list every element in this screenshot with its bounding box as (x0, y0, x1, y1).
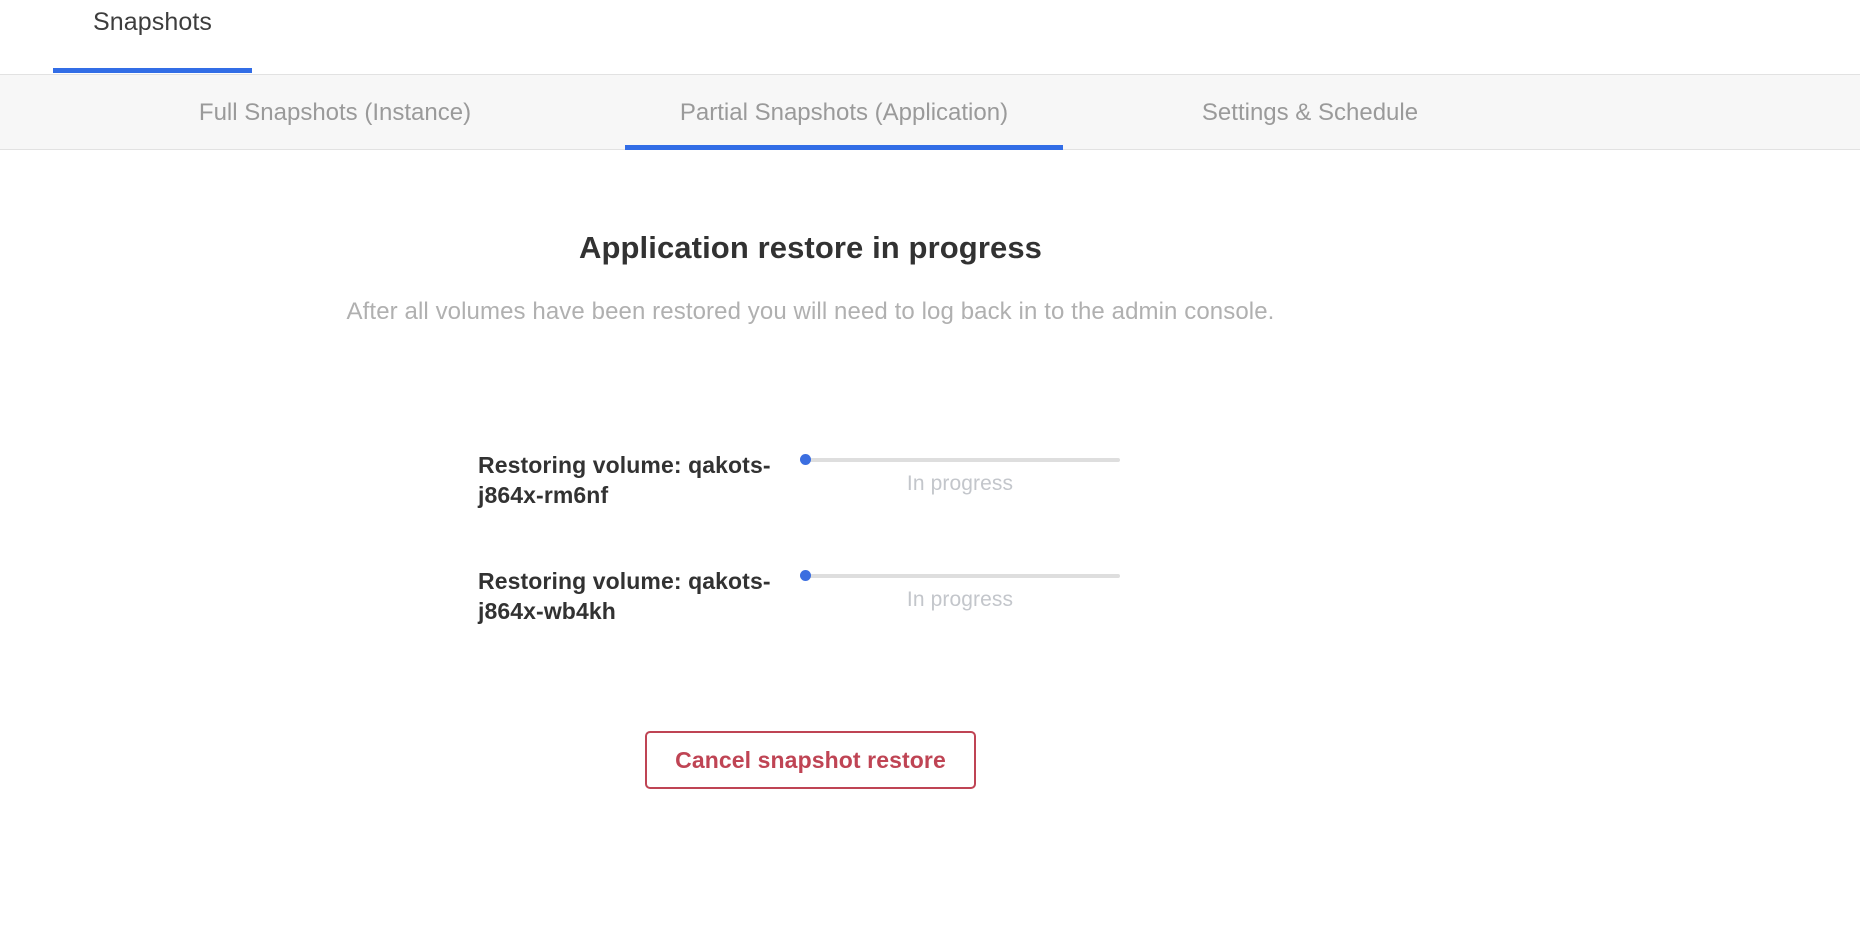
primary-tab-snapshots-label: Snapshots (93, 8, 212, 37)
tab-full-snapshots-instance-label: Full Snapshots (Instance) (199, 99, 471, 127)
tab-settings-and-schedule-label: Settings & Schedule (1202, 99, 1418, 127)
secondary-tab-bar: Full Snapshots (Instance) Partial Snapsh… (0, 74, 1860, 150)
progress-track (800, 574, 1120, 578)
cancel-snapshot-restore-button[interactable]: Cancel snapshot restore (645, 731, 976, 789)
page-subtitle: After all volumes have been restored you… (0, 298, 1621, 326)
volume-restore-list: Restoring volume: qakots-j864x-rm6nf In … (0, 450, 1860, 682)
tab-settings-and-schedule[interactable]: Settings & Schedule (1110, 75, 1510, 150)
progress-status-text: In progress (800, 588, 1120, 612)
progress-status-text: In progress (800, 472, 1120, 496)
volume-restore-row: Restoring volume: qakots-j864x-wb4kh In … (0, 566, 1860, 682)
progress-dot (800, 570, 811, 581)
tab-partial-snapshots-application[interactable]: Partial Snapshots (Application) (625, 75, 1063, 150)
primary-tab-active-underline (53, 68, 252, 73)
volume-restore-row: Restoring volume: qakots-j864x-rm6nf In … (0, 450, 1860, 566)
volume-restore-label: Restoring volume: qakots-j864x-wb4kh (478, 566, 778, 626)
page-title: Application restore in progress (0, 230, 1621, 266)
progress-track (800, 458, 1120, 462)
tab-partial-snapshots-application-label: Partial Snapshots (Application) (680, 99, 1008, 127)
tab-full-snapshots-instance[interactable]: Full Snapshots (Instance) (140, 75, 530, 150)
progress-dot (800, 454, 811, 465)
restore-progress-panel: Application restore in progress After al… (0, 150, 1860, 952)
volume-restore-label: Restoring volume: qakots-j864x-rm6nf (478, 450, 778, 510)
